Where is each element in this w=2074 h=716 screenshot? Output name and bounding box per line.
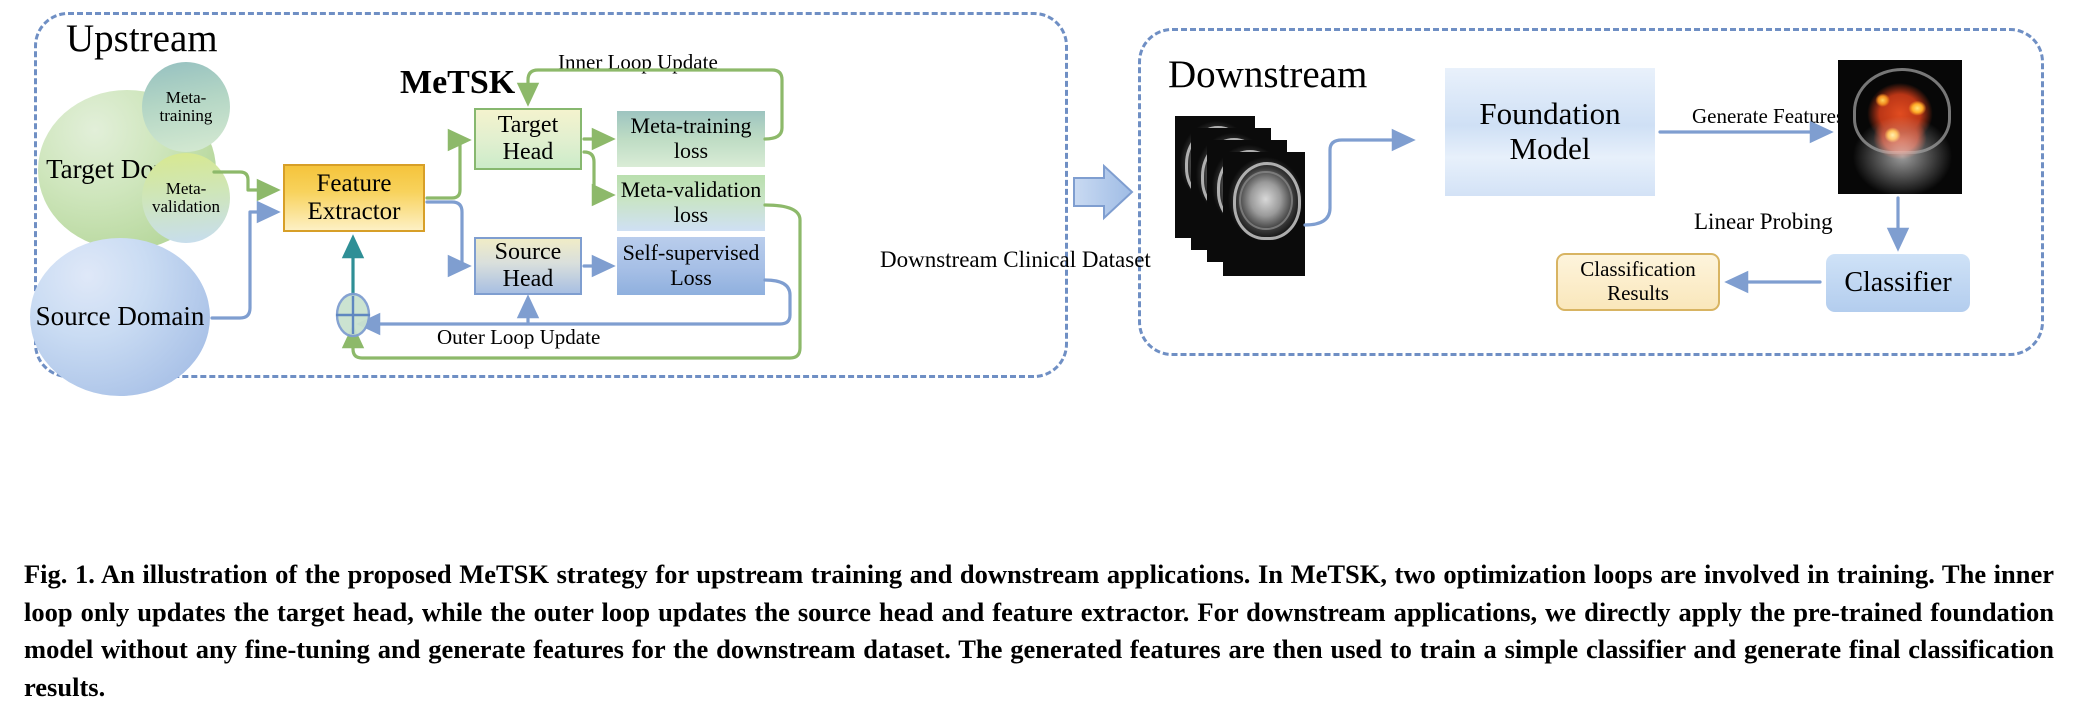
inner-loop-update-label: Inner Loop Update <box>558 50 718 75</box>
upstream-title: Upstream <box>66 16 218 61</box>
meta-training-node: Meta-training <box>142 62 230 152</box>
right-arrow-icon <box>1074 166 1132 218</box>
feature-extractor-box: Feature Extractor <box>283 164 425 232</box>
figure-caption: Fig. 1. An illustration of the proposed … <box>24 556 2054 707</box>
meta-validation-loss-box: Meta-validation loss <box>617 175 765 231</box>
self-supervised-loss-box: Self-supervised Loss <box>617 237 765 295</box>
foundation-model-box: Foundation Model <box>1445 68 1655 196</box>
generate-features-label: Generate Features <box>1692 100 1810 133</box>
source-domain-node: Source Domain <box>30 238 210 396</box>
classifier-box: Classifier <box>1826 254 1970 312</box>
target-head-box: Target Head <box>474 108 582 170</box>
outer-loop-update-label: Outer Loop Update <box>437 325 600 350</box>
brain-heatmap-icon <box>1838 60 1962 194</box>
mri-scan-stack-icon <box>1223 152 1305 276</box>
meta-validation-node: Meta-validation <box>142 153 230 243</box>
classification-results-box: Classification Results <box>1556 253 1720 311</box>
figure-canvas: Upstream MeTSK Target Domain Source Doma… <box>0 0 2074 716</box>
linear-probing-label: Linear Probing <box>1694 209 1833 235</box>
downstream-dataset-label: Downstream Clinical Dataset <box>880 246 1120 274</box>
meta-training-loss-box: Meta-training loss <box>617 111 765 167</box>
metsk-title: MeTSK <box>400 64 515 102</box>
downstream-title: Downstream <box>1168 52 1367 97</box>
source-head-box: Source Head <box>474 237 582 295</box>
